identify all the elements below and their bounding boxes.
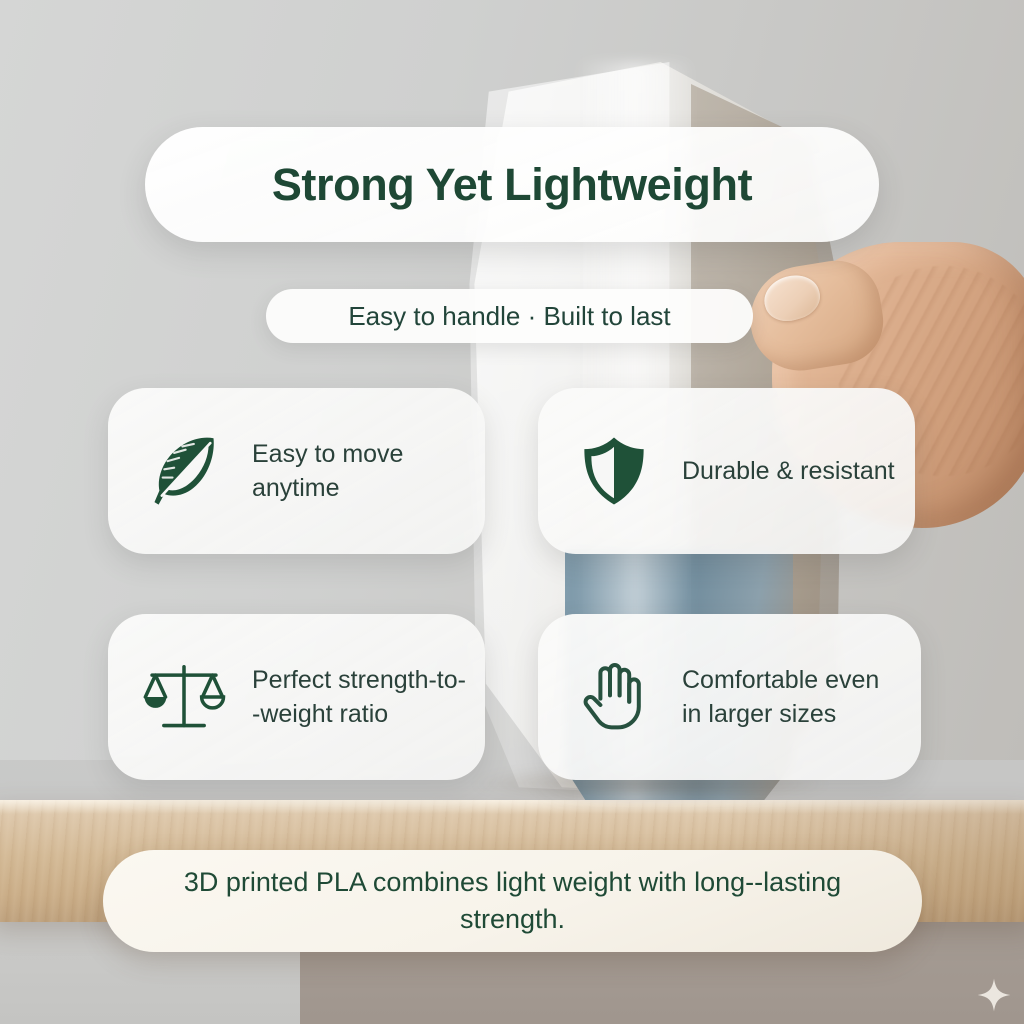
feature-card-strength-to-weight[interactable]: Perfect strength-to--weight ratio [108, 614, 485, 780]
feature-label: Perfect strength-to--weight ratio [252, 663, 467, 732]
page-subtitle: Easy to handle · Built to last [348, 301, 670, 332]
poster-canvas: Strong Yet Lightweight Easy to handle · … [0, 0, 1024, 1024]
shield-icon [572, 429, 656, 513]
feature-label: Durable & resistant [682, 454, 895, 489]
footer-banner: 3D printed PLA combines light weight wit… [103, 850, 922, 952]
page-title: Strong Yet Lightweight [272, 159, 752, 211]
feature-card-comfortable[interactable]: Comfortable even in larger sizes [538, 614, 921, 780]
feature-card-durable[interactable]: Durable & resistant [538, 388, 915, 554]
feature-label: Comfortable even in larger sizes [682, 663, 903, 732]
feature-label: Easy to move anytime [252, 437, 467, 506]
hand-icon [572, 655, 656, 739]
feature-card-easy-to-move[interactable]: Easy to move anytime [108, 388, 485, 554]
title-banner: Strong Yet Lightweight [145, 127, 879, 242]
sparkle-icon [977, 978, 1011, 1012]
feather-icon [142, 429, 226, 513]
footer-text: 3D printed PLA combines light weight wit… [103, 864, 922, 939]
subtitle-banner: Easy to handle · Built to last [266, 289, 753, 343]
balance-scale-icon [142, 655, 226, 739]
